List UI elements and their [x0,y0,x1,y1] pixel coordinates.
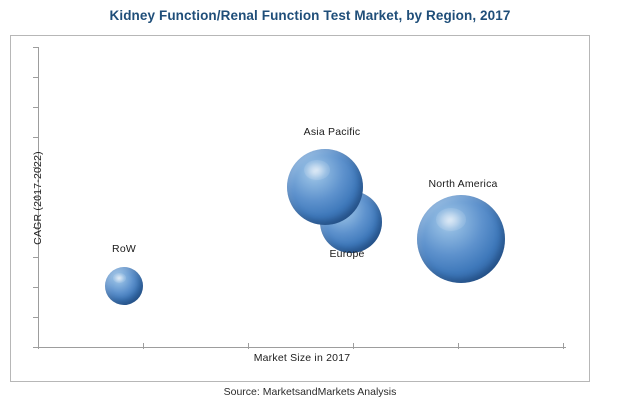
x-axis-tick [353,343,354,349]
bubble-north-america[interactable] [417,195,505,283]
bubble-label-europe: Europe [267,248,427,260]
bubble-asia-pacific[interactable] [287,149,363,225]
y-axis-tick [33,107,39,108]
bubble-label-north-america: North America [383,178,543,190]
y-axis-title: CAGR (2017-2022) [32,118,44,278]
x-axis-tick [143,343,144,349]
y-axis-tick [33,287,39,288]
source-note: Source: MarketsandMarkets Analysis [0,386,620,398]
y-axis-tick [33,47,39,48]
y-axis-tick [33,77,39,78]
x-axis-tick [248,343,249,349]
y-axis-tick [33,317,39,318]
bubble-chart-figure: Kidney Function/Renal Function Test Mark… [0,0,620,415]
x-axis-tick [38,343,39,349]
bubble-label-asia-pacific: Asia Pacific [252,126,412,138]
x-axis-title: Market Size in 2017 [38,352,566,364]
bubble-label-row: RoW [44,243,204,255]
x-axis-tick [563,343,564,349]
x-axis-tick [458,343,459,349]
x-axis-line [38,347,566,348]
bubble-row[interactable] [105,267,143,305]
chart-title: Kidney Function/Renal Function Test Mark… [0,8,620,23]
